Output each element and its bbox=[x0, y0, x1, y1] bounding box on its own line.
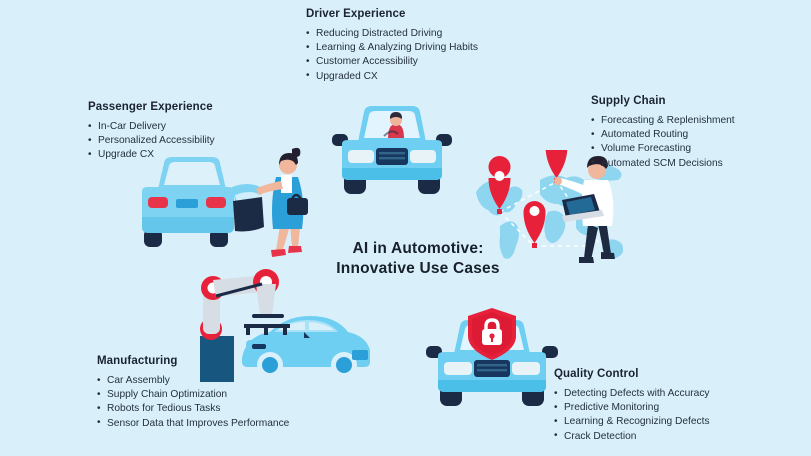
bullet-list-passenger: In-Car Delivery Personalized Accessibili… bbox=[88, 120, 215, 163]
list-item: Car Assembly bbox=[97, 374, 289, 388]
section-supply-chain: Supply Chain Forecasting & Replenishment… bbox=[591, 95, 735, 171]
list-item: Upgraded CX bbox=[306, 70, 478, 84]
list-item: Forecasting & Replenishment bbox=[591, 114, 735, 128]
list-item: Detecting Defects with Accuracy bbox=[554, 387, 710, 401]
bullet-list-quality: Detecting Defects with Accuracy Predicti… bbox=[554, 387, 710, 444]
bullet-list-manufacturing: Car Assembly Supply Chain Optimization R… bbox=[97, 374, 289, 431]
list-item: Learning & Analyzing Driving Habits bbox=[306, 41, 478, 55]
car-with-security-shield-illustration bbox=[424, 306, 560, 411]
list-item: Upgrade CX bbox=[88, 148, 215, 162]
car-front-icon bbox=[330, 96, 454, 206]
section-title-manufacturing: Manufacturing bbox=[97, 355, 289, 367]
list-item: In-Car Delivery bbox=[88, 120, 215, 134]
section-manufacturing: Manufacturing Car Assembly Supply Chain … bbox=[97, 355, 289, 431]
list-item: Customer Accessibility bbox=[306, 55, 478, 69]
section-title-quality: Quality Control bbox=[554, 368, 710, 380]
list-item: Supply Chain Optimization bbox=[97, 388, 289, 402]
page-title-line-2: Innovative Use Cases bbox=[313, 259, 523, 279]
list-item: Automated Routing bbox=[591, 128, 735, 142]
list-item: Personalized Accessibility bbox=[88, 134, 215, 148]
woman-figure bbox=[256, 148, 308, 257]
section-quality-control: Quality Control Detecting Defects with A… bbox=[554, 368, 710, 444]
section-driver-experience: Driver Experience Reducing Distracted Dr… bbox=[306, 8, 478, 84]
bullet-list-driver: Reducing Distracted Driving Learning & A… bbox=[306, 27, 478, 84]
list-item: Sensor Data that Improves Performance bbox=[97, 417, 289, 431]
list-item: Automated SCM Decisions bbox=[591, 157, 735, 171]
section-title-supply: Supply Chain bbox=[591, 95, 735, 107]
car-front-with-shield-icon bbox=[424, 306, 560, 411]
location-pin-icon bbox=[524, 201, 546, 243]
list-item: Reducing Distracted Driving bbox=[306, 27, 478, 41]
page-title: AI in Automotive: Innovative Use Cases bbox=[313, 239, 523, 279]
list-item: Robots for Tedious Tasks bbox=[97, 402, 289, 416]
page-title-line-1: AI in Automotive: bbox=[313, 239, 523, 259]
car-front-with-driver-illustration bbox=[330, 96, 454, 206]
list-item: Predictive Monitoring bbox=[554, 401, 710, 415]
list-item: Learning & Recognizing Defects bbox=[554, 415, 710, 429]
section-title-passenger: Passenger Experience bbox=[88, 101, 215, 113]
section-title-driver: Driver Experience bbox=[306, 8, 478, 20]
list-item: Volume Forecasting bbox=[591, 142, 735, 156]
bullet-list-supply: Forecasting & Replenishment Automated Ro… bbox=[591, 114, 735, 171]
list-item: Crack Detection bbox=[554, 430, 710, 444]
location-pin-icon bbox=[546, 150, 568, 178]
section-passenger-experience: Passenger Experience In-Car Delivery Per… bbox=[88, 101, 215, 163]
infographic-canvas: Driver Experience Reducing Distracted Dr… bbox=[0, 0, 811, 456]
